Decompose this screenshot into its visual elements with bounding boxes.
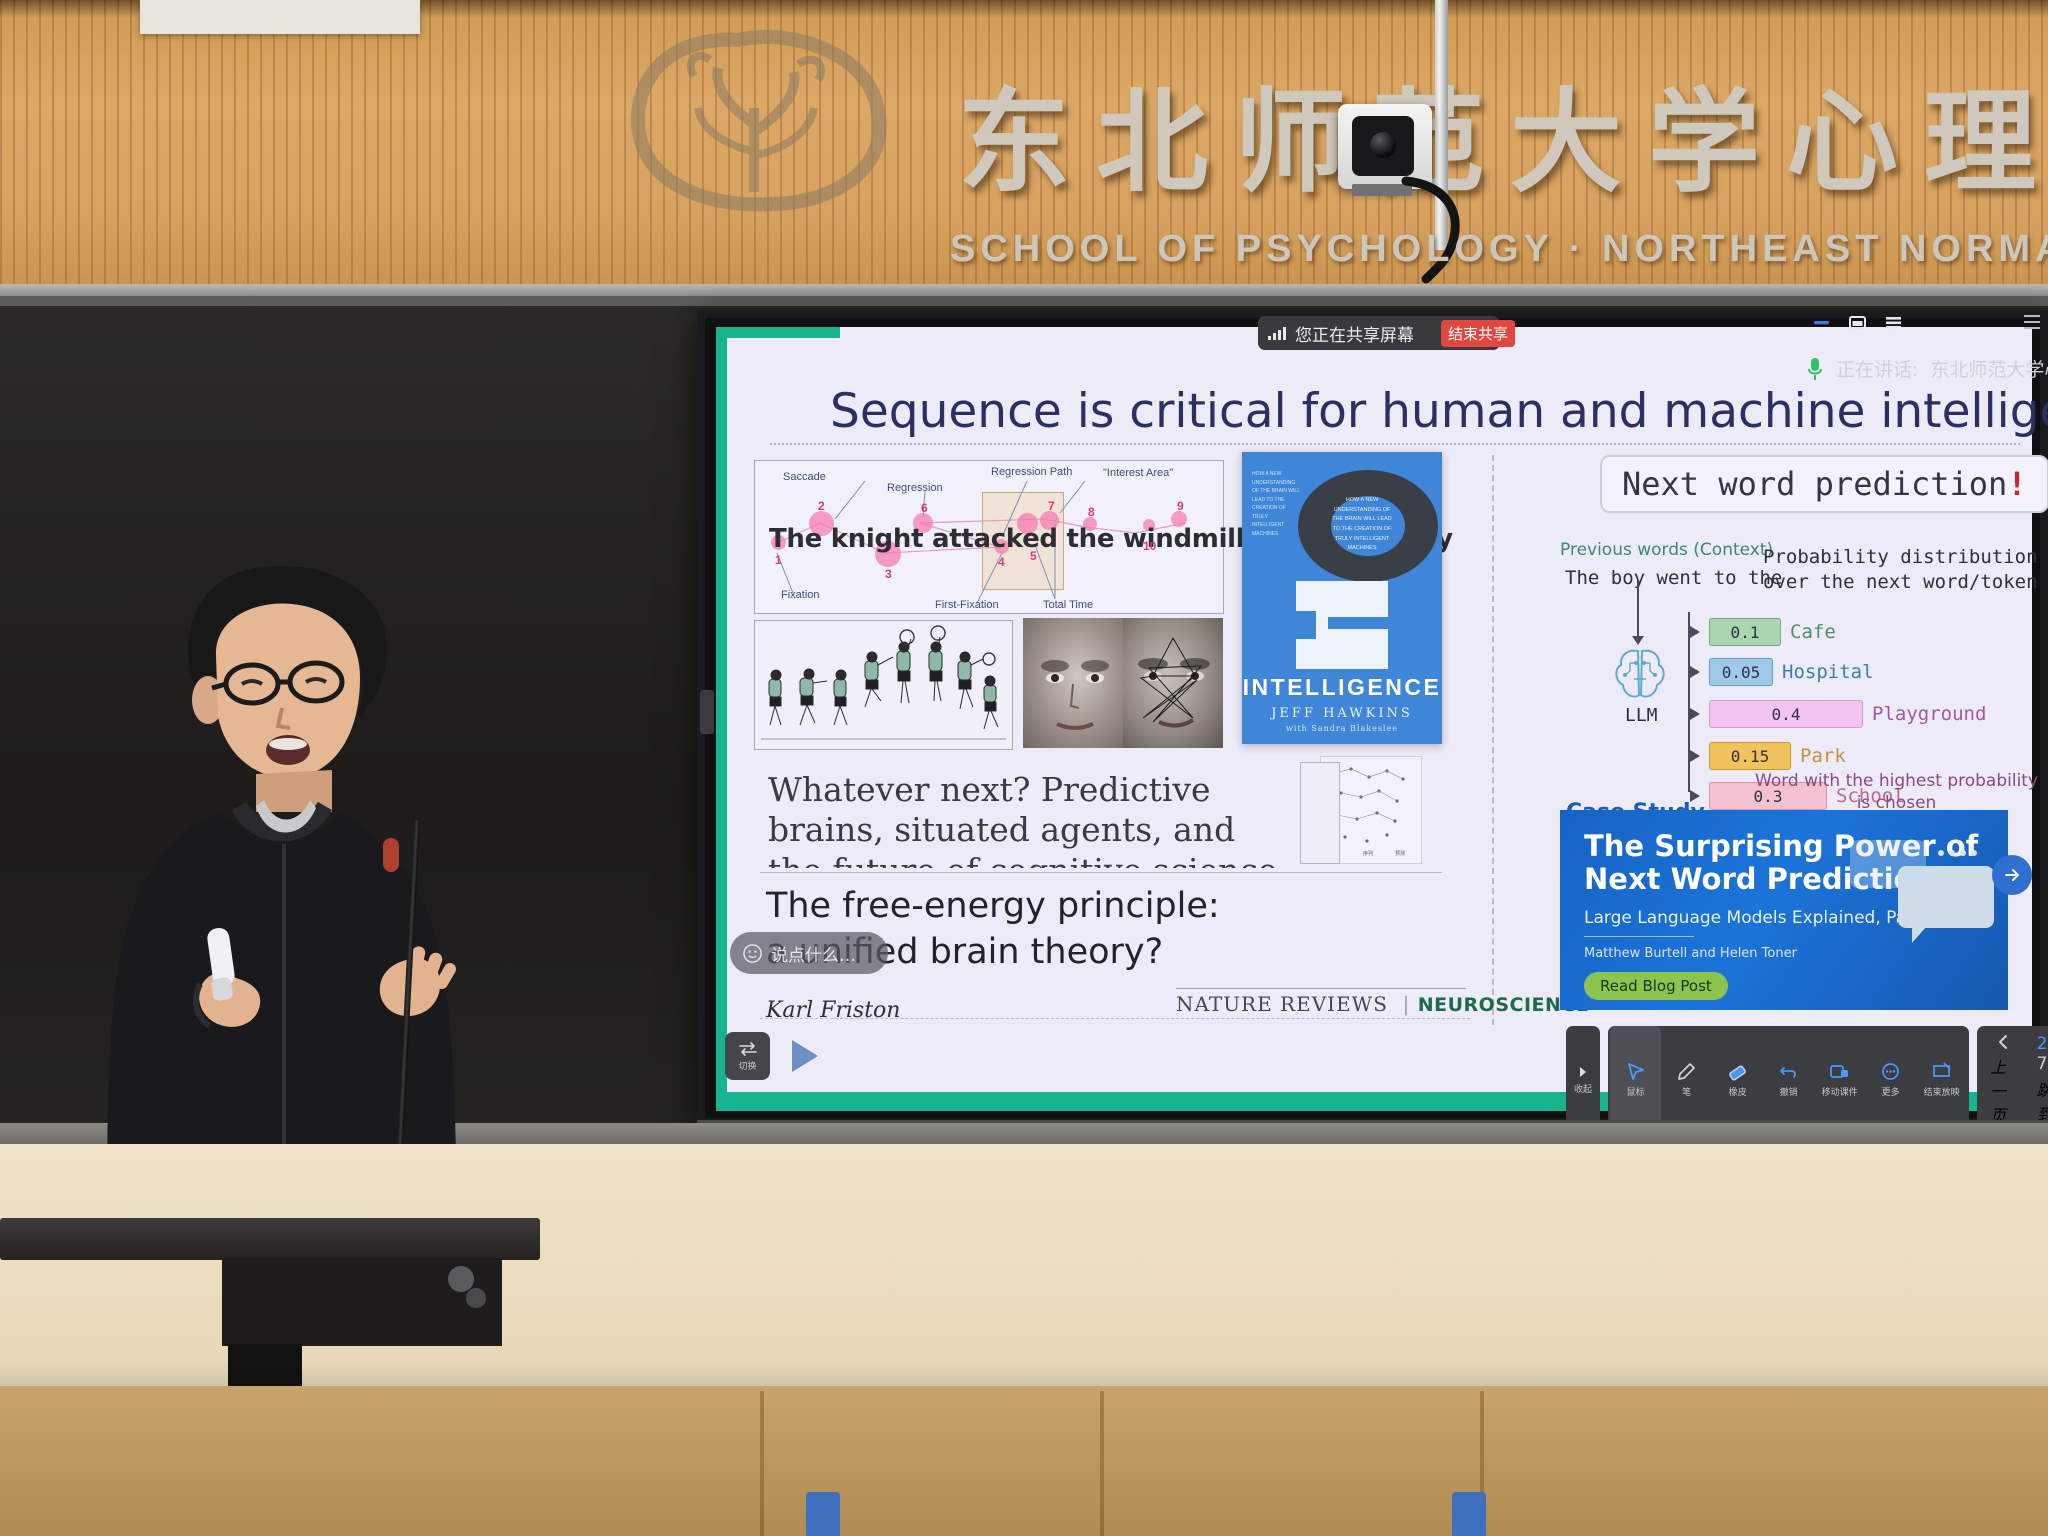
- fixation-number: 8: [1088, 505, 1095, 519]
- fixation-number: 2: [818, 499, 825, 513]
- tool-move-slide-label: 移动课件: [1822, 1085, 1858, 1098]
- speaking-indicator: 正在讲话: 东北师范大学心理…: [1806, 355, 2048, 382]
- face-scanpath-overlay-icon: [1123, 618, 1223, 748]
- prob-word: Cafe: [1790, 621, 1836, 643]
- banner-english: SCHOOL OF PSYCHOLOGY · NORTHEAST NORMAL …: [950, 228, 2048, 271]
- end-show-icon: [1931, 1061, 1952, 1082]
- lectern-knob: [466, 1288, 486, 1308]
- desk-seam: [760, 1391, 764, 1536]
- slide-title-rule: [770, 443, 2020, 445]
- prob-row: 0.15 Park: [1690, 742, 1846, 770]
- label-saccade: Saccade: [783, 471, 826, 483]
- book-cover-glyph-icon: [1288, 577, 1404, 673]
- microphone-head: [383, 838, 399, 872]
- more-icon: [1880, 1061, 1901, 1082]
- toolbar-collapse-button[interactable]: 收起: [1566, 1026, 1600, 1133]
- page-total: 76: [2037, 1054, 2048, 1074]
- volleyball-figures-icon: [755, 621, 1012, 749]
- chevron-right-icon: [1576, 1065, 1590, 1079]
- paper-title-free-energy-line1: The free-energy principle:: [766, 884, 1220, 929]
- minimize-icon[interactable]: [1812, 313, 1831, 332]
- slide-vertical-divider: [1492, 455, 1494, 1025]
- typing-dots-icon: [1938, 850, 1977, 856]
- play-triangle-icon[interactable]: [792, 1040, 818, 1072]
- comment-input-pill[interactable]: 说点什么…: [730, 932, 888, 974]
- fixation-number: 4: [998, 555, 1005, 569]
- face-photo-right-with-scanpath: [1123, 618, 1223, 748]
- display-side-button[interactable]: [700, 690, 714, 734]
- face-scanpath-figure: [1023, 618, 1223, 748]
- fixation-number: 3: [885, 567, 892, 581]
- blog-card[interactable]: The Surprising Power of Next Word Predic…: [1560, 810, 2008, 1010]
- eye-tracking-figure: The knight attacked the windmill on his …: [754, 460, 1224, 614]
- speaking-label: 正在讲话:: [1836, 355, 1918, 382]
- ceiling-panel: [140, 0, 420, 34]
- face-features-left-icon: [1023, 618, 1123, 748]
- swap-arrows-icon: [738, 1041, 758, 1057]
- paper-author-karl-friston: Karl Friston: [766, 998, 900, 1023]
- toolbar-tools[interactable]: 鼠标 笔 橡皮 撤销 移动课件 更多: [1608, 1026, 1969, 1133]
- presentation-toolbar[interactable]: 收起 鼠标 笔 橡皮 撤销 移动课件: [1566, 1026, 2048, 1133]
- prob-bar: 0.05: [1709, 658, 1773, 686]
- svg-text:预测: 预测: [1395, 850, 1405, 857]
- fixation-number: 6: [921, 501, 928, 515]
- chat-bubble-tail-icon: [1912, 927, 1926, 943]
- prob-bar: 0.4: [1709, 700, 1863, 728]
- tool-move-slide[interactable]: 移动课件: [1814, 1026, 1865, 1133]
- lectern-top: [0, 1218, 540, 1260]
- tool-end-show[interactable]: 结束放映: [1916, 1026, 1967, 1133]
- prob-value: 0.4: [1772, 705, 1801, 724]
- label-first-fixation: First-Fixation: [935, 599, 999, 611]
- fixation-number: 7: [1048, 499, 1055, 513]
- chat-bubble-secondary-icon: [1850, 840, 1926, 888]
- eraser-icon: [1727, 1061, 1748, 1082]
- tool-pen-label: 笔: [1682, 1085, 1691, 1098]
- prob-word: Hospital: [1782, 661, 1874, 683]
- undo-icon: [1778, 1061, 1799, 1082]
- speaking-speaker-name: 东北师范大学心理…: [1930, 355, 2048, 382]
- camera-lens-icon: [1352, 116, 1414, 176]
- book-cover-ring-text: HOW A NEW UNDERSTANDING OF THE BRAIN WIL…: [1330, 496, 1394, 552]
- prob-row: 0.1 Cafe: [1690, 618, 1836, 646]
- prob-arrow-icon: [1690, 666, 1700, 678]
- prob-bar: 0.1: [1709, 618, 1781, 646]
- blackboard-top-rail: [0, 296, 2048, 306]
- prob-arrow-icon: [1690, 626, 1700, 638]
- blog-card-subtitle: Large Language Models Explained, Part 1: [1584, 908, 1936, 928]
- tool-end-show-label: 结束放映: [1924, 1085, 1960, 1098]
- svg-text:序列: 序列: [1363, 850, 1373, 857]
- context-text: The boy went to the: [1565, 567, 1782, 589]
- prob-arrow-icon: [1690, 750, 1700, 762]
- jump-page-label: 跳到: [2037, 1077, 2048, 1125]
- pen-icon: [1676, 1061, 1697, 1082]
- tool-eraser-label: 橡皮: [1729, 1085, 1747, 1098]
- label-interest-area: "Interest Area": [1103, 467, 1173, 479]
- floor-shadow: [0, 1362, 2048, 1388]
- end-share-button[interactable]: 结束共享: [1441, 320, 1515, 347]
- paper-title-whatever-next: Whatever next? Predictive brains, situat…: [768, 770, 1298, 868]
- move-slide-icon: [1829, 1061, 1850, 1082]
- switch-view-label: 切换: [738, 1059, 756, 1072]
- prob-row: 0.4 Playground: [1690, 700, 1986, 728]
- next-slide-floating-button[interactable]: [1992, 855, 2032, 895]
- lectern-knob: [448, 1266, 474, 1292]
- label-total-time: Total Time: [1043, 599, 1093, 611]
- chair-back: [1452, 1492, 1486, 1536]
- next-word-prediction-heading: Next word prediction!: [1600, 455, 2048, 513]
- restore-window-icon[interactable]: [1848, 313, 1867, 332]
- label-fixation: Fixation: [781, 589, 820, 601]
- tool-more-label: 更多: [1882, 1085, 1900, 1098]
- toolbar-pagination[interactable]: 上一页 2 / 76 跳到: [1977, 1026, 2048, 1133]
- tool-undo[interactable]: 撤销: [1763, 1026, 1814, 1133]
- face-photo-left: [1023, 618, 1123, 748]
- tool-more[interactable]: 更多: [1865, 1026, 1916, 1133]
- context-label: Previous words (Context): [1560, 540, 1773, 560]
- list-menu-icon[interactable]: [1884, 313, 1903, 332]
- nwp-heading-text: Next word prediction: [1622, 465, 2007, 503]
- prev-page-label: 上一页: [1990, 1054, 2016, 1126]
- label-regression: Regression: [887, 482, 943, 494]
- prob-value: 0.05: [1722, 663, 1761, 682]
- page-current: 2: [2037, 1034, 2048, 1054]
- prob-arrow-icon: [1690, 708, 1700, 720]
- journal-divider: [1176, 988, 1466, 989]
- book-cover-on-intelligence: HOW A NEW UNDERSTANDING OF THE BRAIN WIL…: [1242, 452, 1442, 744]
- screen-share-bar[interactable]: 您正在共享屏幕 结束共享: [1258, 316, 1500, 350]
- page-counter: 2 / 76: [2037, 1034, 2048, 1074]
- switch-view-button[interactable]: 切换: [725, 1032, 770, 1080]
- toolbar-collapse-label: 收起: [1574, 1082, 1592, 1095]
- prob-header-line1: Probability distribution: [1763, 546, 2038, 568]
- banner-chinese: 东北师范大学心理学: [958, 52, 2048, 214]
- share-status-text: 您正在共享屏幕: [1295, 321, 1414, 346]
- tool-pen[interactable]: 笔: [1661, 1026, 1712, 1133]
- context-to-llm-arrow: [1637, 580, 1639, 642]
- window-controls[interactable]: [1812, 313, 1903, 332]
- journal-prefix: NATURE REVIEWS: [1176, 992, 1388, 1016]
- fixation-number: 9: [1177, 499, 1184, 513]
- tool-undo-label: 撤销: [1780, 1085, 1798, 1098]
- chair-back: [806, 1492, 840, 1536]
- screenshot-root: 东北师范大学心理学 SCHOOL OF PSYCHOLOGY · NORTHEA…: [0, 0, 2048, 1536]
- prob-word: Playground: [1872, 703, 1986, 725]
- paper-divider: [760, 872, 1442, 873]
- comment-placeholder: 说点什么…: [771, 941, 856, 966]
- blog-card-rule: [1584, 936, 1694, 937]
- prob-bar: 0.15: [1709, 742, 1791, 770]
- prob-value: 0.1: [1731, 623, 1760, 642]
- signal-bars-icon: [1268, 327, 1286, 340]
- brain-tree-emblem-icon: [598, 20, 918, 220]
- cursor-icon: [1625, 1061, 1646, 1082]
- probability-distribution-header: Probability distribution over the next w…: [1763, 545, 2038, 594]
- journal-name: NATURE REVIEWS | NEUROSCIENCE: [1176, 992, 1589, 1016]
- llm-label: LLM: [1625, 705, 1658, 726]
- paper-title-clip: Whatever next? Predictive brains, situat…: [760, 758, 1320, 868]
- send-arrow-icon: [2003, 866, 2021, 884]
- page-indicator[interactable]: 2 / 76 跳到: [2027, 1026, 2048, 1133]
- book-coauthor: with Sandra Blakeslee: [1242, 724, 1442, 733]
- smiley-icon: [742, 943, 763, 964]
- prob-value: 0.15: [1731, 747, 1770, 766]
- tool-cursor[interactable]: 鼠标: [1610, 1026, 1661, 1133]
- read-blog-post-button[interactable]: Read Blog Post: [1584, 972, 1728, 1000]
- desk-seam: [1100, 1391, 1104, 1536]
- book-author: JEFF HAWKINS: [1242, 706, 1442, 721]
- prob-word: Park: [1800, 745, 1846, 767]
- chevron-left-icon: [1995, 1033, 2011, 1051]
- tool-cursor-label: 鼠标: [1627, 1085, 1645, 1098]
- highest-probability-note: Word with the highest probability is cho…: [1755, 770, 2038, 814]
- fixation-number: 5: [1030, 549, 1037, 563]
- prev-page-button[interactable]: 上一页: [1980, 1026, 2026, 1133]
- blog-card-authors: Matthew Burtell and Helen Toner: [1584, 946, 1797, 961]
- student-desk-row: [0, 1386, 2048, 1536]
- prob-header-line2: over the next word/token: [1763, 571, 2038, 593]
- slide-bottom-divider: [760, 1018, 1470, 1019]
- volleyball-spike-figure: [754, 620, 1013, 750]
- microphone-icon: [1806, 356, 1824, 382]
- wall-trim: [0, 284, 2048, 296]
- brain-chip-icon: [1612, 645, 1668, 703]
- fixation-number: 10: [1143, 539, 1156, 553]
- slide-title: Sequence is critical for human and machi…: [830, 384, 2020, 439]
- book-title: INTELLIGENCE: [1242, 674, 1442, 701]
- tool-eraser[interactable]: 橡皮: [1712, 1026, 1763, 1133]
- slide-accent-left: [716, 327, 727, 1111]
- nwp-heading-mark: !: [2007, 465, 2026, 503]
- highest-note-line1: Word with the highest probability: [1755, 771, 2038, 791]
- prob-row: 0.05 Hospital: [1690, 658, 1874, 686]
- label-regression-path: Regression Path: [991, 466, 1072, 478]
- fixation-number: 1: [775, 553, 782, 567]
- slide-accent-top: [716, 327, 840, 338]
- hamburger-menu-icon[interactable]: [2022, 314, 2042, 330]
